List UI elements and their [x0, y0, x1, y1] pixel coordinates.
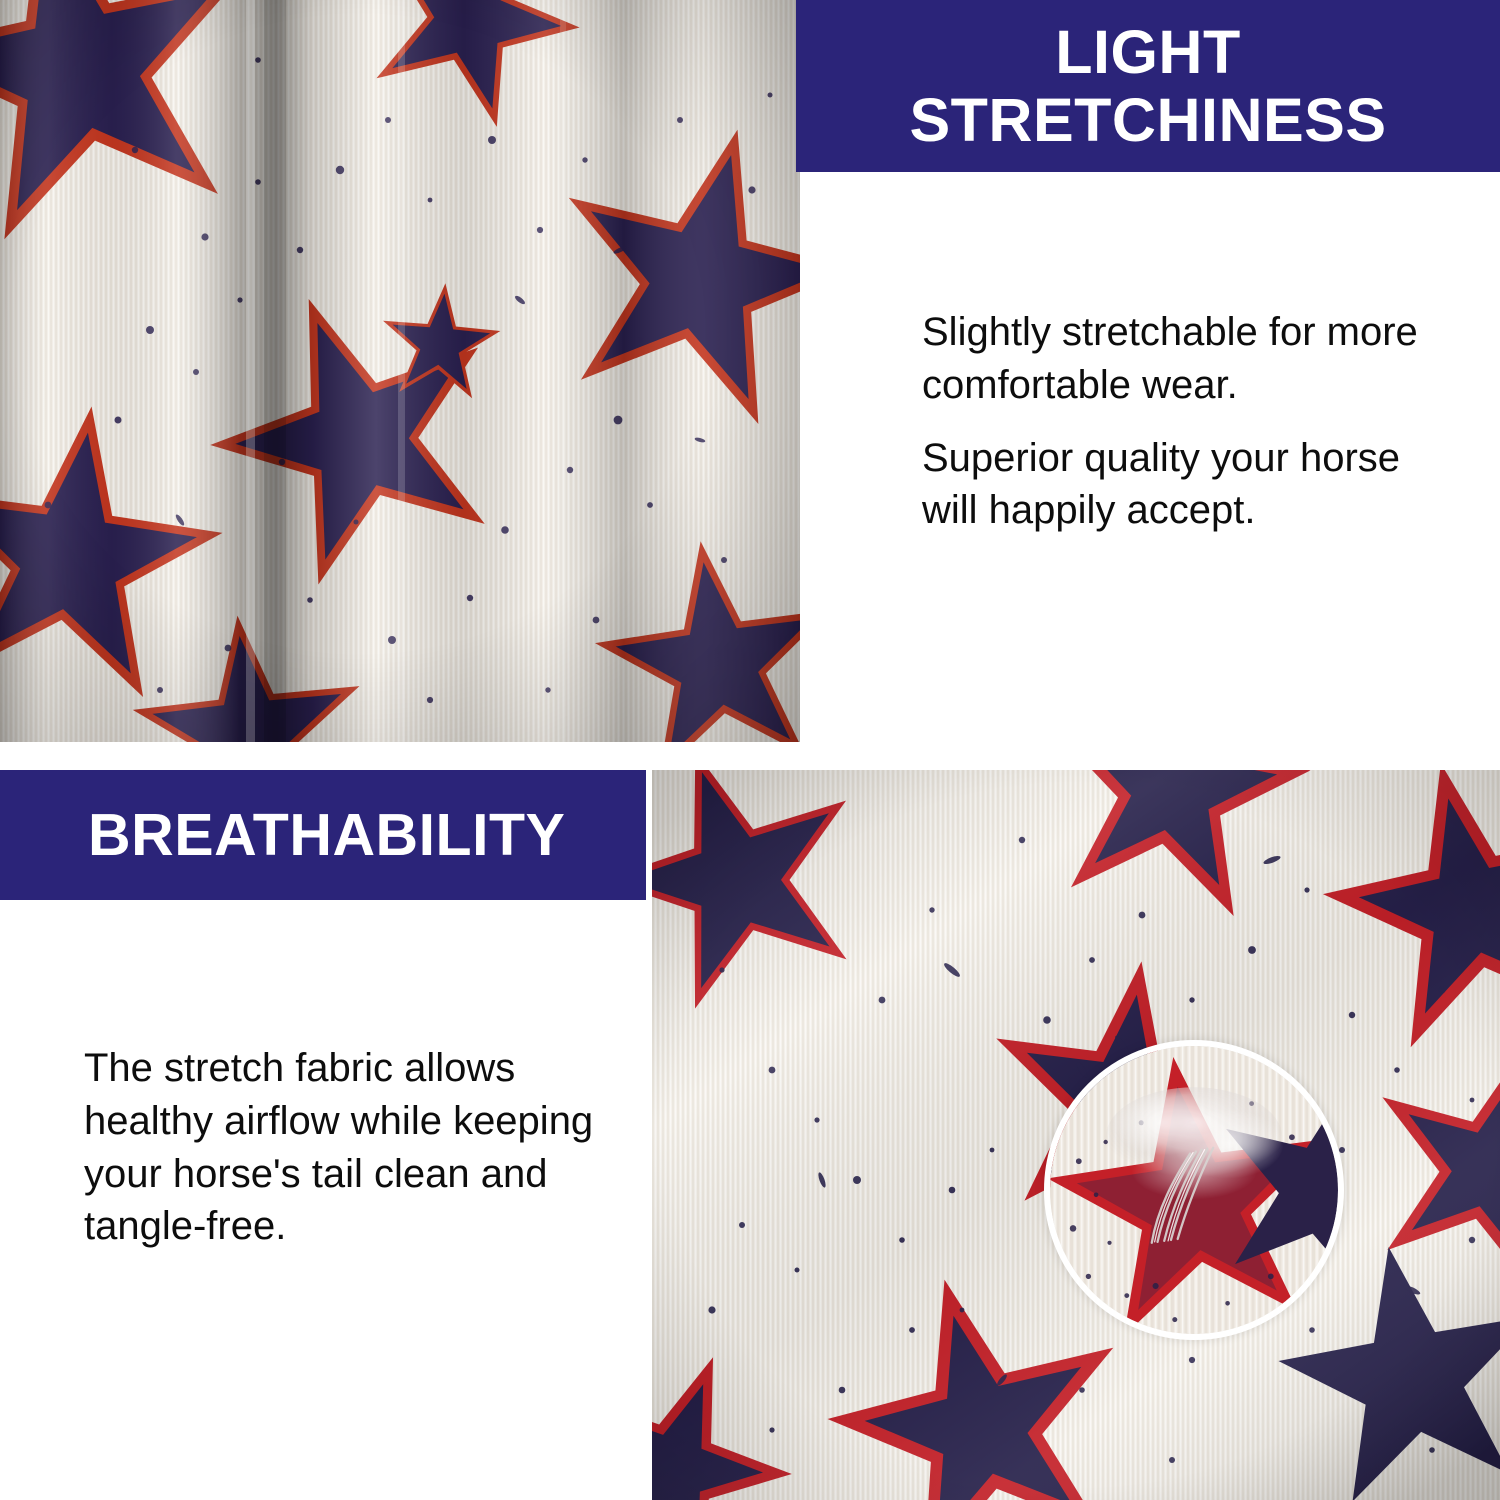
banner-breathability: BREATHABILITY: [0, 770, 646, 900]
fabric-drape-photo: [0, 0, 800, 742]
banner-stretchiness-title: LIGHT STRETCHINESS: [909, 18, 1386, 155]
stretchiness-paragraph-1: Slightly stretchable for more comfortabl…: [922, 306, 1462, 412]
banner-light-stretchiness: LIGHT STRETCHINESS: [796, 0, 1500, 172]
magnifier-circle-icon: [1044, 1040, 1344, 1340]
airflow-vapor-detail: [1050, 1046, 1338, 1334]
stretchiness-paragraph-2: Superior quality your horse will happily…: [922, 432, 1462, 538]
banner-breathability-title: BREATHABILITY: [88, 802, 565, 868]
breathability-paragraph-1: The stretch fabric allows healthy airflo…: [84, 1042, 624, 1253]
product-infographic-page: LIGHT STRETCHINESS Slightly stretchable …: [0, 0, 1500, 1500]
stretchiness-description: Slightly stretchable for more comfortabl…: [922, 306, 1462, 537]
banner-stretchiness-line-1: LIGHT: [1055, 18, 1240, 86]
breathability-description: The stretch fabric allows healthy airflo…: [84, 1042, 624, 1253]
banner-stretchiness-line-2: STRETCHINESS: [909, 86, 1386, 154]
fabric-drape-illustration: [0, 0, 800, 742]
